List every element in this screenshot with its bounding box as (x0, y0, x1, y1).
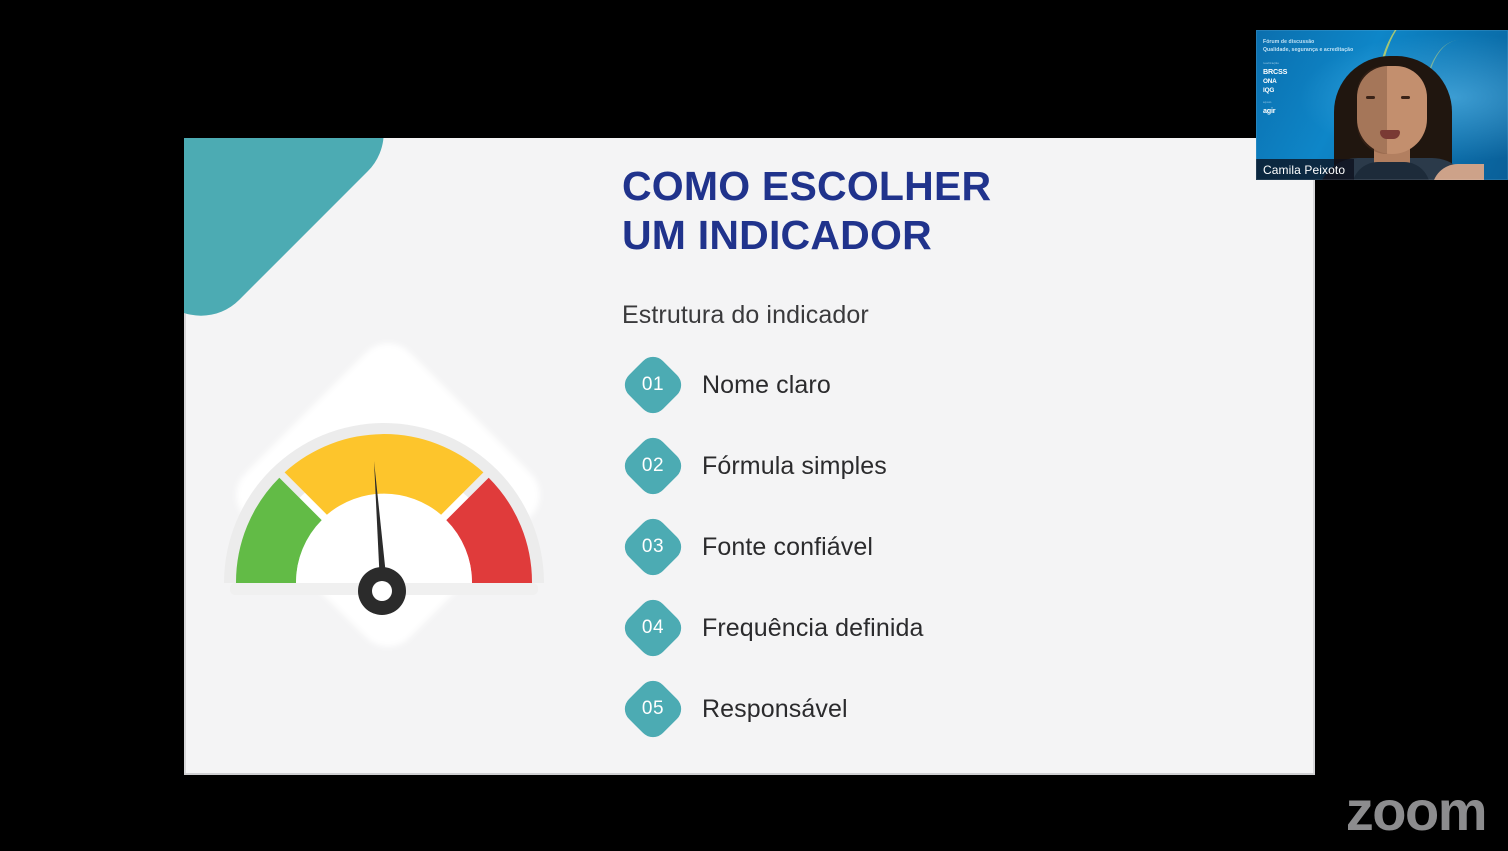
step-label: Fonte confiável (702, 516, 873, 578)
background-heading-line-1: Fórum de discussão (1263, 39, 1371, 47)
presenter-right-eye (1401, 96, 1410, 99)
slide-title: COMO ESCOLHER UM INDICADOR (622, 162, 1262, 260)
speedometer-gauge-icon (204, 333, 564, 683)
step-badge: 04 (622, 597, 684, 659)
list-item: 04 Frequência definida (622, 597, 1242, 678)
teal-corner-decoration (184, 138, 406, 338)
slide-right-border (1313, 138, 1315, 775)
step-label: Frequência definida (702, 597, 924, 659)
step-badge: 03 (622, 516, 684, 578)
list-item: 05 Responsável (622, 678, 1242, 759)
participant-name-bar: Camila Peixoto (1256, 159, 1354, 180)
list-item: 01 Nome claro (622, 354, 1242, 435)
slide-title-line-2: UM INDICADOR (622, 211, 1262, 260)
shared-slide: COMO ESCOLHER UM INDICADOR Estrutura do … (184, 138, 1315, 775)
background-realization-label: realização (1263, 61, 1371, 65)
step-badge: 05 (622, 678, 684, 740)
step-badge: 02 (622, 435, 684, 497)
step-number: 05 (622, 678, 684, 740)
participant-name: Camila Peixoto (1263, 163, 1345, 177)
step-label: Fórmula simples (702, 435, 887, 497)
gauge-illustration (204, 333, 564, 683)
zoom-meeting-screen: COMO ESCOLHER UM INDICADOR Estrutura do … (0, 0, 1508, 851)
zoom-logo: zoom (1346, 783, 1486, 839)
slide-bottom-border (184, 773, 1315, 775)
presenter-face-shadow (1357, 66, 1387, 154)
step-number: 02 (622, 435, 684, 497)
step-number: 04 (622, 597, 684, 659)
step-number: 03 (622, 516, 684, 578)
indicator-steps-list: 01 Nome claro 02 Fórmula simples 03 Font… (622, 354, 1242, 759)
background-heading-line-2: Qualidade, segurança e acreditação (1263, 47, 1371, 55)
list-item: 03 Fonte confiável (622, 516, 1242, 597)
step-badge: 01 (622, 354, 684, 416)
participant-video-tile[interactable]: Fórum de discussão Qualidade, segurança … (1256, 30, 1508, 180)
list-item: 02 Fórmula simples (622, 435, 1242, 516)
step-label: Nome claro (702, 354, 831, 416)
step-label: Responsável (702, 678, 848, 740)
presenter-left-eye (1366, 96, 1375, 99)
step-number: 01 (622, 354, 684, 416)
presenter-mouth (1380, 130, 1400, 139)
slide-subtitle: Estrutura do indicador (622, 301, 869, 330)
slide-title-line-1: COMO ESCOLHER (622, 162, 1262, 211)
